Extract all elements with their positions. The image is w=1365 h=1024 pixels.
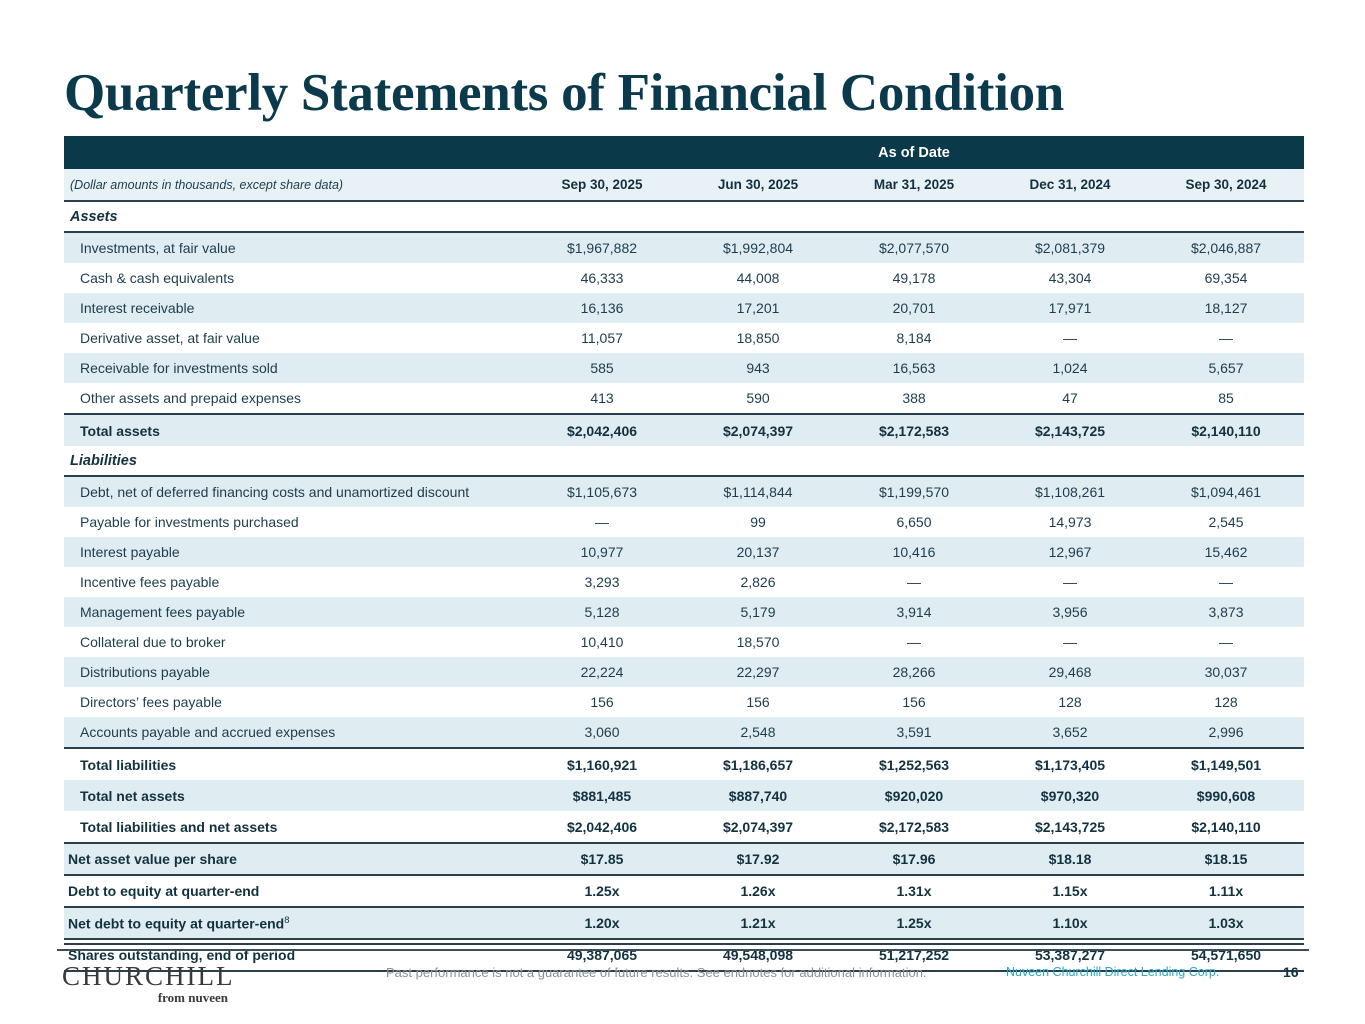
table-cell-value: 128: [1148, 687, 1304, 717]
table-cell-value: 3,956: [992, 597, 1148, 627]
column-header: Sep 30, 2025: [524, 169, 680, 201]
financial-condition-table: As of Date(Dollar amounts in thousands, …: [64, 136, 1304, 972]
section-header-label: Assets: [64, 201, 1304, 232]
table-cell-value: 22,297: [680, 657, 836, 687]
table-row: Other assets and prepaid expenses4135903…: [64, 383, 1304, 414]
table-row: Receivable for investments sold58594316,…: [64, 353, 1304, 383]
logo-wordmark: CHURCHILL: [62, 962, 292, 990]
table-cell-value: 12,967: [992, 537, 1148, 567]
table-row: Accounts payable and accrued expenses3,0…: [64, 717, 1304, 748]
table-cell-value: —: [992, 567, 1148, 597]
table-cell-value: $970,320: [992, 780, 1148, 811]
metric-cell-value: $18.15: [1148, 843, 1304, 875]
table-row: Management fees payable5,1285,1793,9143,…: [64, 597, 1304, 627]
table-row: Incentive fees payable3,2932,826———: [64, 567, 1304, 597]
table-cell-value: 17,201: [680, 293, 836, 323]
table-cell-value: 2,996: [1148, 717, 1304, 748]
row-label: Investments, at fair value: [64, 232, 524, 263]
table-cell-value: 3,873: [1148, 597, 1304, 627]
table-cell-value: $2,143,725: [992, 811, 1148, 843]
total-row-label: Total assets: [64, 414, 524, 446]
table-cell-value: $2,074,397: [680, 811, 836, 843]
metric-cell-value: 1.20x: [524, 907, 680, 939]
table-cell-value: 2,548: [680, 717, 836, 748]
table-cell-value: 10,416: [836, 537, 992, 567]
table-cell-value: $920,020: [836, 780, 992, 811]
table-cell-value: 1,024: [992, 353, 1148, 383]
table-cell-value: —: [836, 567, 992, 597]
row-label: Interest payable: [64, 537, 524, 567]
row-label: Interest receivable: [64, 293, 524, 323]
table-cell-value: $1,992,804: [680, 232, 836, 263]
table-cell-value: —: [836, 627, 992, 657]
row-label: Receivable for investments sold: [64, 353, 524, 383]
table-column-headers: (Dollar amounts in thousands, except sha…: [64, 169, 1304, 201]
table-cell-value: 3,914: [836, 597, 992, 627]
table-cell-value: $1,186,657: [680, 748, 836, 780]
total-row-label: Total liabilities: [64, 748, 524, 780]
metric-row: Debt to equity at quarter-end1.25x1.26x1…: [64, 875, 1304, 907]
table-cell-value: —: [1148, 323, 1304, 353]
table-cell-value: 44,008: [680, 263, 836, 293]
table-cell-value: 5,179: [680, 597, 836, 627]
table-cell-value: —: [992, 323, 1148, 353]
table-cell-value: 30,037: [1148, 657, 1304, 687]
metric-cell-value: $17.96: [836, 843, 992, 875]
table-cell-value: $1,967,882: [524, 232, 680, 263]
table-row: Distributions payable22,22422,29728,2662…: [64, 657, 1304, 687]
churchill-logo: CHURCHILL from nuveen: [62, 962, 292, 1005]
column-header: Sep 30, 2024: [1148, 169, 1304, 201]
table-cell-value: $2,140,110: [1148, 811, 1304, 843]
table-row: Debt, net of deferred financing costs an…: [64, 476, 1304, 507]
table-cell-value: $2,046,887: [1148, 232, 1304, 263]
row-label: Collateral due to broker: [64, 627, 524, 657]
table-cell-value: 585: [524, 353, 680, 383]
metric-row: Net debt to equity at quarter-end81.20x1…: [64, 907, 1304, 939]
total-row-label: Total net assets: [64, 780, 524, 811]
table-cell-value: 2,826: [680, 567, 836, 597]
table-cell-value: 85: [1148, 383, 1304, 414]
section-header-label: Liabilities: [64, 446, 1304, 476]
table-cell-value: $2,143,725: [992, 414, 1148, 446]
metric-cell-value: 1.31x: [836, 875, 992, 907]
column-header: Mar 31, 2025: [836, 169, 992, 201]
row-label: Distributions payable: [64, 657, 524, 687]
table-group-header: As of Date: [64, 136, 1304, 169]
table-cell-value: 17,971: [992, 293, 1148, 323]
group-header-spacer: [64, 136, 524, 169]
metric-cell-value: $18.18: [992, 843, 1148, 875]
metric-row: Net asset value per share$17.85$17.92$17…: [64, 843, 1304, 875]
table-cell-value: 3,591: [836, 717, 992, 748]
table-cell-value: 11,057: [524, 323, 680, 353]
table-cell-value: $2,077,570: [836, 232, 992, 263]
table-cell-value: 28,266: [836, 657, 992, 687]
table-cell-value: —: [1148, 627, 1304, 657]
table-cell-value: 388: [836, 383, 992, 414]
table-cell-value: $1,199,570: [836, 476, 992, 507]
metric-cell-value: 1.03x: [1148, 907, 1304, 939]
table-row: Directors’ fees payable156156156128128: [64, 687, 1304, 717]
table-cell-value: $1,114,844: [680, 476, 836, 507]
group-header-label: As of Date: [524, 136, 1304, 169]
table-cell-value: $2,042,406: [524, 414, 680, 446]
table-cell-value: 5,128: [524, 597, 680, 627]
table-cell-value: 156: [836, 687, 992, 717]
metric-row-label: Net asset value per share: [64, 843, 524, 875]
table-cell-value: $1,173,405: [992, 748, 1148, 780]
table-cell-value: $990,608: [1148, 780, 1304, 811]
table-cell-value: 590: [680, 383, 836, 414]
row-label: Accounts payable and accrued expenses: [64, 717, 524, 748]
table-cell-value: 5,657: [1148, 353, 1304, 383]
metric-row-label: Net debt to equity at quarter-end8: [64, 907, 524, 939]
table-cell-value: —: [1148, 567, 1304, 597]
table-cell-value: $2,140,110: [1148, 414, 1304, 446]
table-cell-value: 18,570: [680, 627, 836, 657]
logo-tagline: from nuveen: [62, 990, 228, 1005]
table-cell-value: —: [524, 507, 680, 537]
table-cell-value: $887,740: [680, 780, 836, 811]
page-number: 16: [1283, 964, 1299, 980]
section-header-row: Assets: [64, 201, 1304, 232]
table-cell-value: 18,850: [680, 323, 836, 353]
units-note: (Dollar amounts in thousands, except sha…: [64, 169, 524, 201]
table-cell-value: 413: [524, 383, 680, 414]
table-cell-value: 20,137: [680, 537, 836, 567]
table-cell-value: $1,160,921: [524, 748, 680, 780]
slide-root: Quarterly Statements of Financial Condit…: [0, 0, 1365, 1024]
metric-cell-value: 1.11x: [1148, 875, 1304, 907]
table-cell-value: —: [992, 627, 1148, 657]
metric-cell-value: 1.26x: [680, 875, 836, 907]
table-cell-value: 3,060: [524, 717, 680, 748]
table-cell-value: 16,563: [836, 353, 992, 383]
table-cell-value: 29,468: [992, 657, 1148, 687]
table-cell-value: 46,333: [524, 263, 680, 293]
table-cell-value: 10,410: [524, 627, 680, 657]
total-row-label: Total liabilities and net assets: [64, 811, 524, 843]
row-label: Other assets and prepaid expenses: [64, 383, 524, 414]
table-cell-value: 20,701: [836, 293, 992, 323]
table-row: Total net assets$881,485$887,740$920,020…: [64, 780, 1304, 811]
table-cell-value: 8,184: [836, 323, 992, 353]
table-cell-value: 69,354: [1148, 263, 1304, 293]
table-cell-value: $1,252,563: [836, 748, 992, 780]
row-label: Management fees payable: [64, 597, 524, 627]
table-cell-value: $1,108,261: [992, 476, 1148, 507]
table-cell-value: 22,224: [524, 657, 680, 687]
metric-cell-value: 1.25x: [524, 875, 680, 907]
metric-row-label: Debt to equity at quarter-end: [64, 875, 524, 907]
table-cell-value: 14,973: [992, 507, 1148, 537]
table-cell-value: $1,105,673: [524, 476, 680, 507]
table-row: Cash & cash equivalents46,33344,00849,17…: [64, 263, 1304, 293]
table-cell-value: $2,172,583: [836, 811, 992, 843]
table-row: Payable for investments purchased—996,65…: [64, 507, 1304, 537]
footer-divider: [57, 949, 1309, 951]
row-label: Payable for investments purchased: [64, 507, 524, 537]
table-row: Interest payable10,97720,13710,41612,967…: [64, 537, 1304, 567]
section-header-row: Liabilities: [64, 446, 1304, 476]
table-cell-value: 43,304: [992, 263, 1148, 293]
table-cell-value: 128: [992, 687, 1148, 717]
row-label: Derivative asset, at fair value: [64, 323, 524, 353]
table-cell-value: $881,485: [524, 780, 680, 811]
row-label: Cash & cash equivalents: [64, 263, 524, 293]
corporate-name: Nuveen Churchill Direct Lending Corp.: [1006, 965, 1219, 979]
table-cell-value: 15,462: [1148, 537, 1304, 567]
column-header: Jun 30, 2025: [680, 169, 836, 201]
metric-cell-value: 1.10x: [992, 907, 1148, 939]
metric-cell-value: $17.92: [680, 843, 836, 875]
table-cell-value: 49,178: [836, 263, 992, 293]
table-cell-value: 156: [524, 687, 680, 717]
disclaimer-text: Past performance is not a guarantee of f…: [386, 965, 927, 980]
table-cell-value: 99: [680, 507, 836, 537]
table-cell-value: 2,545: [1148, 507, 1304, 537]
metric-cell-value: $17.85: [524, 843, 680, 875]
table-cell-value: $2,172,583: [836, 414, 992, 446]
table-row: Total liabilities and net assets$2,042,4…: [64, 811, 1304, 843]
table-row: Total assets$2,042,406$2,074,397$2,172,5…: [64, 414, 1304, 446]
table-cell-value: 16,136: [524, 293, 680, 323]
table-cell-value: 943: [680, 353, 836, 383]
row-label: Incentive fees payable: [64, 567, 524, 597]
table-cell-value: $2,081,379: [992, 232, 1148, 263]
table-cell-value: $2,042,406: [524, 811, 680, 843]
table-row: Total liabilities$1,160,921$1,186,657$1,…: [64, 748, 1304, 780]
table-cell-value: $2,074,397: [680, 414, 836, 446]
table-cell-value: 3,652: [992, 717, 1148, 748]
table-row: Collateral due to broker10,41018,570———: [64, 627, 1304, 657]
table-cell-value: 6,650: [836, 507, 992, 537]
table-cell-value: 18,127: [1148, 293, 1304, 323]
metric-cell-value: 1.25x: [836, 907, 992, 939]
table-cell-value: $1,149,501: [1148, 748, 1304, 780]
metric-cell-value: 1.21x: [680, 907, 836, 939]
row-label: Debt, net of deferred financing costs an…: [64, 476, 524, 507]
column-header: Dec 31, 2024: [992, 169, 1148, 201]
table-row: Investments, at fair value$1,967,882$1,9…: [64, 232, 1304, 263]
table-row: Derivative asset, at fair value11,05718,…: [64, 323, 1304, 353]
page-title: Quarterly Statements of Financial Condit…: [64, 64, 1064, 122]
table-cell-value: $1,094,461: [1148, 476, 1304, 507]
row-label: Directors’ fees payable: [64, 687, 524, 717]
table-cell-value: 156: [680, 687, 836, 717]
footnote-marker: 8: [284, 915, 289, 926]
metric-cell-value: 1.15x: [992, 875, 1148, 907]
table-row: Interest receivable16,13617,20120,70117,…: [64, 293, 1304, 323]
table-cell-value: 3,293: [524, 567, 680, 597]
table-cell-value: 10,977: [524, 537, 680, 567]
table-cell-value: 47: [992, 383, 1148, 414]
